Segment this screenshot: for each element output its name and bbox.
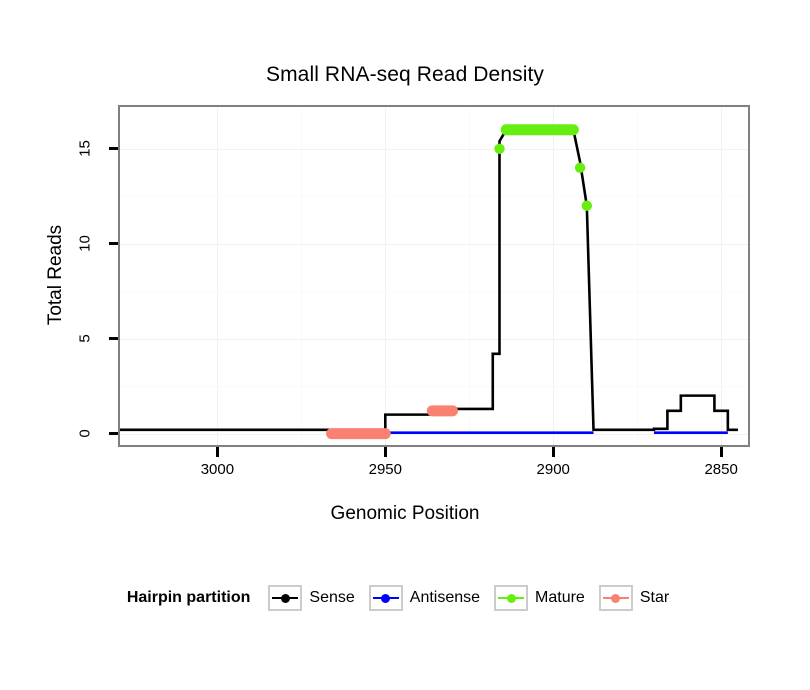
x-axis-label: Genomic Position bbox=[0, 503, 810, 525]
legend-item-sense[interactable]: Sense bbox=[268, 585, 354, 611]
legend-item-label: Antisense bbox=[410, 589, 480, 607]
plot-series-layer bbox=[120, 107, 748, 445]
legend-item-label: Sense bbox=[309, 589, 354, 607]
x-axis-tick-label: 2900 bbox=[513, 461, 593, 478]
y-axis-tick-label: 15 bbox=[77, 128, 94, 168]
legend-item-antisense[interactable]: Antisense bbox=[369, 585, 480, 611]
y-axis-tick-mark bbox=[109, 242, 118, 245]
x-axis-tick-mark bbox=[216, 447, 219, 457]
chart-title: Small RNA-seq Read Density bbox=[0, 63, 810, 87]
legend-item-label: Mature bbox=[535, 589, 585, 607]
legend-items: SenseAntisenseMatureStar bbox=[268, 585, 683, 611]
chart-canvas: Small RNA-seq Read Density 051015 300029… bbox=[0, 0, 810, 690]
series-point-mature bbox=[575, 163, 585, 173]
legend-key-swatch bbox=[599, 585, 633, 611]
legend: Hairpin partition SenseAntisenseMatureSt… bbox=[0, 585, 810, 611]
series-point-mature bbox=[582, 201, 592, 211]
legend-item-label: Star bbox=[640, 589, 669, 607]
legend-key-swatch bbox=[494, 585, 528, 611]
legend-key-swatch bbox=[369, 585, 403, 611]
legend-key-dot bbox=[611, 594, 620, 603]
x-axis-tick-label: 2950 bbox=[345, 461, 425, 478]
plot-area bbox=[118, 105, 750, 447]
legend-key-dot bbox=[381, 594, 390, 603]
y-axis-label: Total Reads bbox=[45, 104, 67, 446]
y-axis-tick-label: 10 bbox=[77, 223, 94, 263]
legend-key-dot bbox=[281, 594, 290, 603]
y-axis-tick-mark bbox=[109, 337, 118, 340]
y-axis-tick-label: 0 bbox=[77, 413, 94, 453]
x-axis-tick-mark bbox=[720, 447, 723, 457]
legend-title: Hairpin partition bbox=[127, 589, 251, 607]
x-axis-tick-mark bbox=[384, 447, 387, 457]
legend-key-swatch bbox=[268, 585, 302, 611]
series-line-sense bbox=[120, 130, 738, 434]
legend-key-dot bbox=[507, 594, 516, 603]
legend-item-star[interactable]: Star bbox=[599, 585, 669, 611]
y-axis-tick-mark bbox=[109, 147, 118, 150]
x-axis-tick-mark bbox=[552, 447, 555, 457]
legend-item-mature[interactable]: Mature bbox=[494, 585, 585, 611]
y-axis-tick-label: 5 bbox=[77, 318, 94, 358]
y-axis-tick-mark bbox=[109, 432, 118, 435]
x-axis-tick-label: 2850 bbox=[681, 461, 761, 478]
x-axis-tick-label: 3000 bbox=[177, 461, 257, 478]
series-point-mature bbox=[494, 144, 504, 154]
